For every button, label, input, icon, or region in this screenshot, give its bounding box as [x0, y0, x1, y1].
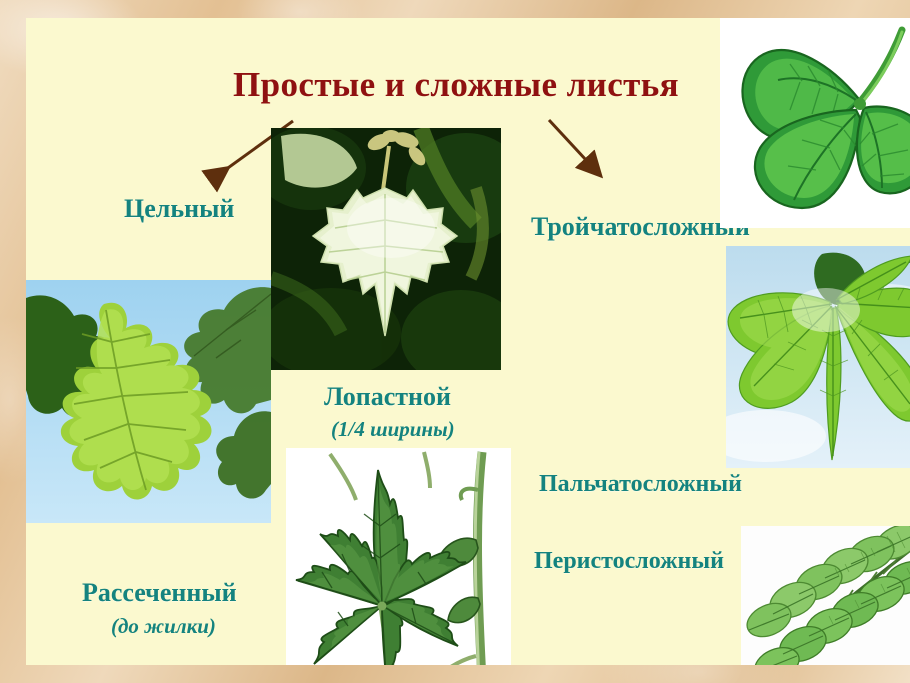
label-pinnate: Перистосложный	[534, 548, 724, 575]
label-palmate: Пальчатосложный	[539, 471, 742, 498]
label-dissected: Рассеченный	[82, 578, 237, 608]
slide-canvas: Простые и сложные листья Цельный Тройчат…	[26, 18, 910, 665]
label-lobed-note: (1/4 ширины)	[331, 417, 455, 442]
horse-chestnut-palmate-photo	[726, 246, 910, 468]
arrow-down-right-icon	[541, 114, 631, 194]
oak-leaves-sky-photo	[26, 280, 271, 523]
trifoliate-clover-drawing	[720, 18, 910, 228]
label-simple-whole: Цельный	[124, 194, 234, 224]
dissected-geranium-drawing	[286, 448, 511, 665]
label-trifoliate: Тройчатосложный	[531, 212, 750, 242]
page-title: Простые и сложные листья	[176, 65, 736, 105]
label-lobed: Лопастной	[324, 382, 451, 412]
lobed-leaf-photo	[271, 128, 501, 370]
pinnate-compound-leaf-drawing	[741, 526, 910, 665]
label-dissected-note: (до жилки)	[111, 614, 216, 639]
